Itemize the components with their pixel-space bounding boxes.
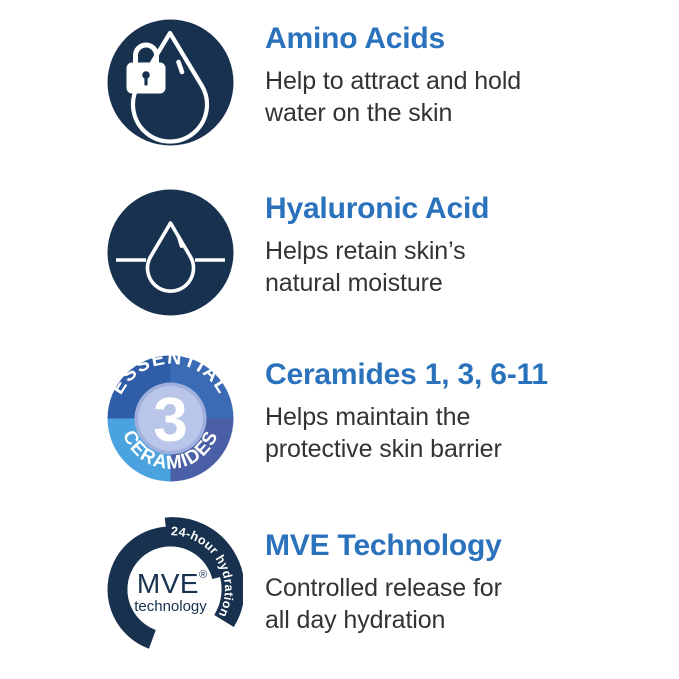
benefit-item-hyaluronic-acid: Hyaluronic Acid Helps retain skin’s natu…: [0, 178, 679, 346]
benefit-title: MVE Technology: [265, 531, 502, 561]
mve-center-main: MVE: [137, 568, 199, 599]
benefit-text-block: Ceramides 1, 3, 6-11 Helps maintain the …: [265, 346, 548, 465]
benefit-description: Helps retain skin’s natural moisture: [265, 235, 489, 299]
benefit-description-line: Controlled release for: [265, 572, 502, 604]
droplet-lines-icon: [98, 180, 243, 325]
benefit-text-block: Hyaluronic Acid Helps retain skin’s natu…: [265, 178, 489, 299]
lock-droplet-icon: [98, 10, 243, 155]
benefit-description: Helps maintain the protective skin barri…: [265, 401, 548, 465]
benefit-description: Help to attract and hold water on the sk…: [265, 65, 521, 129]
benefit-title: Ceramides 1, 3, 6-11: [265, 360, 548, 390]
benefit-text-block: Amino Acids Help to attract and hold wat…: [265, 8, 521, 129]
benefit-description-line: natural moisture: [265, 267, 489, 299]
mve-center-sub: technology: [134, 598, 207, 615]
badge-center-number: 3: [153, 386, 187, 455]
benefit-description: Controlled release for all day hydration: [265, 572, 502, 636]
benefits-list: Amino Acids Help to attract and hold wat…: [0, 0, 679, 679]
benefit-item-amino-acids: Amino Acids Help to attract and hold wat…: [0, 8, 679, 178]
benefit-item-ceramides: ESSENTIAL CERAMIDES 3 Ceramides 1, 3, 6-…: [0, 346, 679, 512]
mve-technology-ring-icon: 24-hour hydration MVE ® technology: [98, 517, 243, 662]
benefit-description-line: Helps maintain the: [265, 401, 548, 433]
essential-ceramides-badge-icon: ESSENTIAL CERAMIDES 3: [98, 346, 243, 491]
benefit-item-mve-technology: 24-hour hydration MVE ® technology MVE T…: [0, 513, 679, 679]
benefit-title: Hyaluronic Acid: [265, 194, 489, 224]
benefit-description-line: water on the skin: [265, 97, 521, 129]
benefit-description-line: protective skin barrier: [265, 433, 548, 465]
mve-registered-mark: ®: [199, 569, 207, 581]
benefit-description-line: all day hydration: [265, 604, 502, 636]
benefit-title: Amino Acids: [265, 24, 521, 54]
benefit-text-block: MVE Technology Controlled release for al…: [265, 513, 502, 636]
benefit-description-line: Helps retain skin’s: [265, 235, 489, 267]
benefit-description-line: Help to attract and hold: [265, 65, 521, 97]
